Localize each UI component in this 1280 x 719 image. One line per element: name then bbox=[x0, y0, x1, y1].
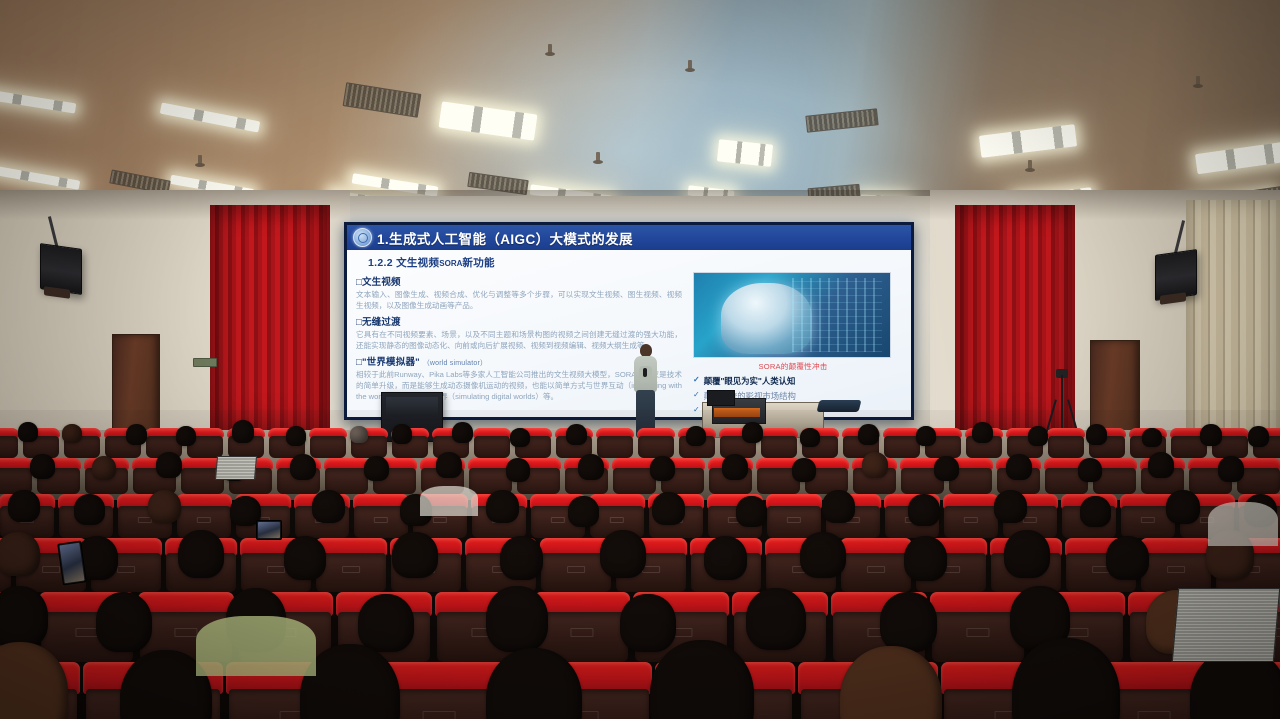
audience-head bbox=[178, 530, 224, 578]
audience-head bbox=[286, 426, 306, 446]
block-paragraph: 文本输入、图像生成、视频合成、优化与调整等多个步骤，可以实现文生视频、图生视频、… bbox=[356, 289, 682, 311]
audience-head bbox=[904, 536, 947, 581]
slide-title-bar: 1.生成式人工智能（AIGC）大模式的发展 bbox=[347, 225, 911, 250]
audience-head bbox=[126, 424, 147, 445]
audience-head bbox=[600, 530, 646, 578]
audience-head bbox=[176, 426, 196, 446]
audience-head bbox=[1248, 426, 1269, 447]
university-emblem-icon bbox=[353, 228, 372, 247]
audience-head bbox=[800, 428, 820, 447]
audience-head bbox=[686, 426, 706, 446]
block-heading-text: □无缝过渡 bbox=[356, 317, 401, 328]
audience-head bbox=[156, 452, 182, 478]
audience-head bbox=[862, 452, 888, 478]
table-monitor bbox=[707, 390, 735, 406]
audience-head bbox=[8, 490, 40, 522]
humanoid-robot-illustration bbox=[693, 272, 891, 358]
audience-head bbox=[652, 492, 685, 525]
audience-head bbox=[736, 496, 767, 527]
list-item: ✓ 颠覆"眼见为实"人类认知 bbox=[693, 375, 893, 387]
projection-screen: 1.生成式人工智能（AIGC）大模式的发展 1.2.2 文生视频SORA新功能 … bbox=[344, 222, 914, 420]
check-mark-icon: ✓ bbox=[693, 375, 700, 384]
laptop-screen[interactable] bbox=[215, 456, 257, 480]
seat[interactable] bbox=[0, 428, 19, 458]
seated-audience bbox=[0, 410, 1280, 719]
audience-clothing bbox=[196, 616, 316, 676]
laptop-screen[interactable] bbox=[1172, 588, 1280, 662]
audience-head bbox=[908, 494, 940, 526]
audience-head bbox=[500, 536, 543, 580]
audience-head bbox=[566, 424, 587, 445]
slide-subtitle-tail: 新功能 bbox=[462, 257, 494, 269]
audience-head bbox=[0, 532, 40, 576]
audience-head bbox=[18, 422, 38, 442]
block-heading: □无缝过渡 bbox=[356, 314, 682, 328]
audience-head bbox=[722, 454, 748, 480]
block-heading-en: （world simulator） bbox=[423, 360, 487, 367]
audience-head bbox=[284, 536, 326, 580]
seat[interactable] bbox=[760, 428, 798, 458]
audience-head bbox=[96, 592, 152, 652]
audience-head bbox=[62, 424, 82, 443]
seat[interactable] bbox=[840, 538, 912, 592]
audience-head bbox=[620, 594, 676, 652]
audience-head bbox=[506, 458, 530, 482]
sprinkler-head-icon bbox=[548, 44, 552, 55]
seat[interactable] bbox=[473, 428, 511, 458]
seat[interactable] bbox=[637, 428, 675, 458]
audience-head bbox=[800, 532, 846, 578]
audience-head bbox=[290, 454, 316, 480]
ceiling bbox=[0, 0, 1280, 215]
audience-head bbox=[746, 588, 806, 650]
sprinkler-head-icon bbox=[596, 152, 600, 163]
wall-sign-plate bbox=[193, 358, 217, 367]
audience-head bbox=[436, 452, 462, 478]
audience-head bbox=[822, 490, 855, 523]
audience-head bbox=[916, 426, 936, 446]
audience-head bbox=[578, 454, 604, 480]
audience-head bbox=[1080, 496, 1111, 527]
audience-head bbox=[1086, 424, 1107, 445]
audience-clothing bbox=[1208, 502, 1278, 546]
sprinkler-head-icon bbox=[1028, 160, 1032, 171]
seat[interactable] bbox=[324, 458, 369, 494]
robot-image-caption: SORA的颠覆性冲击 bbox=[693, 361, 893, 372]
audience-head bbox=[392, 424, 412, 444]
seat[interactable] bbox=[1140, 538, 1212, 592]
audience-head bbox=[994, 490, 1027, 523]
audience-head bbox=[452, 422, 473, 443]
sprinkler-head-icon bbox=[198, 155, 202, 166]
audience-head bbox=[364, 456, 389, 481]
audience-head bbox=[1218, 456, 1244, 482]
sprinkler-head-icon bbox=[1196, 76, 1200, 87]
seat[interactable] bbox=[309, 428, 347, 458]
slide-subtitle: 1.2.2 文生视频SORA新功能 bbox=[368, 255, 904, 270]
slide-subtitle-en: SORA bbox=[439, 259, 462, 268]
audience-head bbox=[1006, 454, 1032, 480]
audience-head bbox=[1106, 536, 1149, 580]
audience-head bbox=[92, 456, 116, 480]
audience-head bbox=[486, 586, 548, 652]
slide-subtitle-main: 1.2.2 文生视频 bbox=[368, 257, 439, 269]
sprinkler-head-icon bbox=[688, 60, 692, 71]
audience-head bbox=[1200, 424, 1222, 446]
slide-title-text: 1.生成式人工智能（AIGC）大模式的发展 bbox=[377, 228, 633, 248]
check-mark-icon: ✓ bbox=[693, 390, 700, 399]
audience-head bbox=[358, 594, 414, 652]
list-item-label: 颠覆"眼见为实"人类认知 bbox=[704, 375, 796, 387]
seat[interactable] bbox=[1047, 428, 1085, 458]
audience-head bbox=[1142, 428, 1162, 447]
audience-head bbox=[486, 490, 519, 523]
audience-head bbox=[792, 458, 816, 482]
audience-head bbox=[232, 420, 254, 443]
block-heading: □文生视频 bbox=[356, 274, 682, 288]
audience-head bbox=[1148, 452, 1174, 478]
block-heading-text: □文生视频 bbox=[356, 277, 401, 288]
audience-head bbox=[148, 490, 181, 523]
audience-head bbox=[858, 424, 879, 445]
audience-head bbox=[1028, 426, 1048, 446]
smartphone-screen[interactable] bbox=[256, 520, 282, 540]
audience-head bbox=[1166, 490, 1200, 524]
handheld-microphone-icon bbox=[643, 368, 647, 377]
seat[interactable] bbox=[0, 458, 33, 494]
seat[interactable] bbox=[943, 494, 999, 538]
block-heading-text: □"世界模拟器" bbox=[356, 357, 420, 368]
audience-head bbox=[934, 456, 959, 481]
auditorium-photo: 1.生成式人工智能（AIGC）大模式的发展 1.2.2 文生视频SORA新功能 … bbox=[0, 0, 1280, 719]
audience-head bbox=[30, 454, 55, 479]
audience-head bbox=[568, 496, 599, 527]
audience-head bbox=[392, 532, 438, 578]
audience-head bbox=[704, 536, 747, 580]
audience-head bbox=[880, 592, 937, 652]
audience-head bbox=[742, 422, 763, 443]
audience-head bbox=[0, 586, 48, 648]
audience-clothing bbox=[420, 486, 478, 516]
seat[interactable] bbox=[596, 428, 634, 458]
audience-head bbox=[1078, 458, 1102, 482]
audience-head bbox=[972, 422, 993, 443]
seat[interactable] bbox=[766, 494, 822, 538]
slide-block: □文生视频 文本输入、图像生成、视频合成、优化与调整等多个步骤，可以实现文生视频… bbox=[356, 274, 682, 311]
audience-head bbox=[650, 456, 675, 481]
audience-head bbox=[510, 428, 530, 447]
audience-head bbox=[74, 494, 105, 525]
presentation-slide: 1.生成式人工智能（AIGC）大模式的发展 1.2.2 文生视频SORA新功能 … bbox=[347, 225, 911, 417]
audience-head bbox=[350, 426, 368, 443]
audience-head bbox=[1004, 530, 1050, 578]
audience-head bbox=[312, 490, 345, 523]
